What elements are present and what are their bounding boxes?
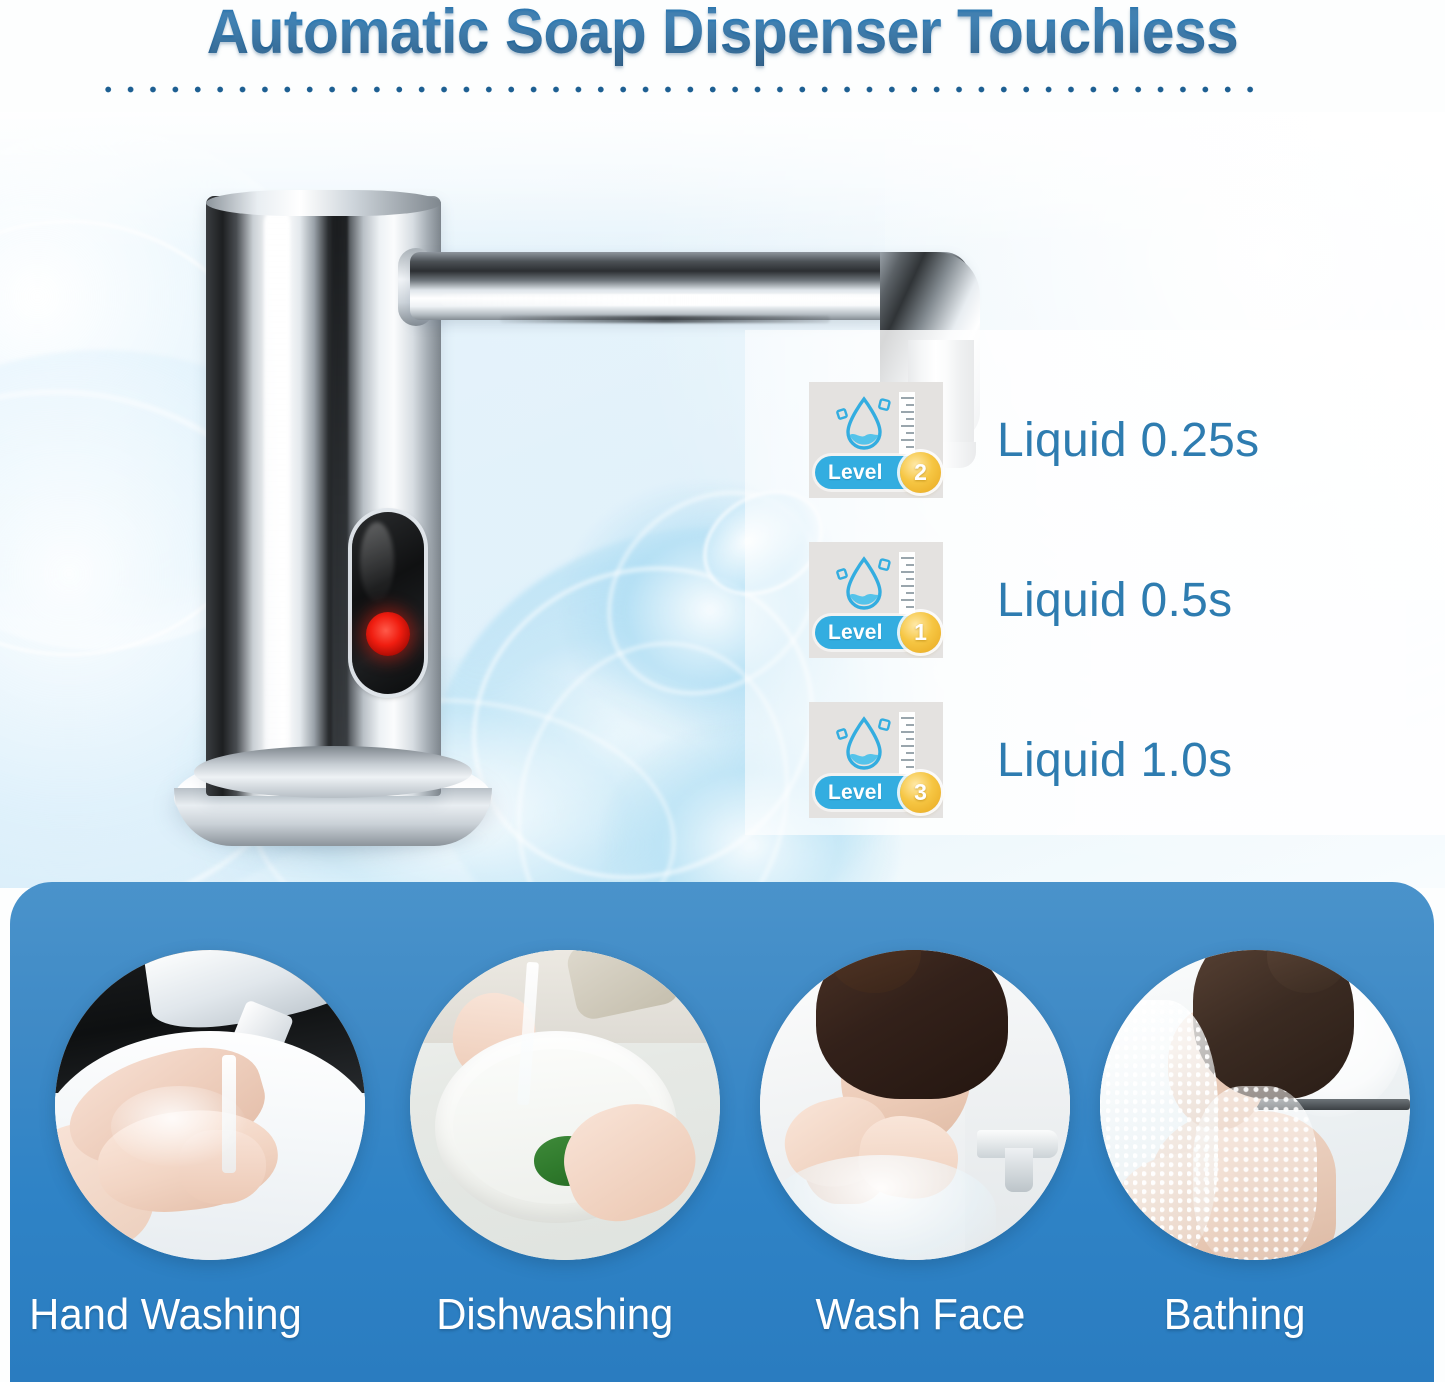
ruler-scale-icon [897,551,917,615]
level-list: Level 2 Liquid 0.25s [745,330,1445,835]
infrared-sensor-window [352,512,424,694]
badge-icon-group [809,546,943,620]
dispenser-body-highlight [264,210,290,770]
dotted-divider [97,84,1257,95]
level-row: Level 3 Liquid 1.0s [809,702,1232,818]
usecase-caption: Hand Washing [29,1290,302,1340]
usecase-caption: Wash Face [816,1290,1026,1340]
level-pill: Level 1 [815,616,937,649]
water-drop-icon [836,390,892,456]
level-number: 2 [900,452,941,493]
header: Automatic Soap Dispenser Touchless Autom… [0,0,1445,112]
liquid-duration-label: Liquid 0.25s [997,413,1259,468]
level-badge: Level 3 [809,702,943,818]
water-drop-icon [836,550,892,616]
usecase-photo-dishwashing [410,950,720,1260]
water-drop-icon [836,710,892,776]
red-led-indicator [366,612,410,656]
usecase-caption: Dishwashing [436,1290,673,1340]
dispenser-body-top [206,190,441,216]
ruler-scale-icon [897,711,917,775]
liquid-duration-label: Liquid 1.0s [997,733,1232,788]
level-pill-label: Level [815,621,883,645]
spout-shade [500,316,830,323]
badge-icon-group [809,706,943,780]
dispenser-base-top [194,746,472,798]
page-title: Automatic Soap Dispenser Touchless [51,0,1395,68]
dispenser-body-shade [332,208,348,778]
usecase-caption: Bathing [1164,1290,1306,1340]
usecase-photo-row [10,950,1434,1280]
level-badge: Level 2 [809,382,943,498]
sensor-glare [360,522,394,602]
level-number: 1 [900,612,941,653]
level-pill-label: Level [815,781,883,805]
level-pill-label: Level [815,461,883,485]
level-pill: Level 2 [815,456,937,489]
badge-icon-group [809,386,943,460]
level-row: Level 1 Liquid 0.5s [809,542,1232,658]
usecase-caption-row: Hand Washing Dishwashing Wash Face Bathi… [10,1290,1434,1360]
level-badge: Level 1 [809,542,943,658]
spout-highlight [440,294,920,306]
level-row: Level 2 Liquid 0.25s [809,382,1259,498]
usecase-photo-bathing [1100,950,1410,1260]
product-infographic: Automatic Soap Dispenser Touchless Autom… [0,0,1445,1382]
usecases-panel: Hand Washing Dishwashing Wash Face Bathi… [10,882,1434,1382]
usecase-photo-wash-face [760,950,1070,1260]
liquid-duration-label: Liquid 0.5s [997,573,1232,628]
usecase-photo-hand-washing [55,950,365,1260]
ruler-scale-icon [897,391,917,455]
level-number: 3 [900,772,941,813]
level-pill: Level 3 [815,776,937,809]
